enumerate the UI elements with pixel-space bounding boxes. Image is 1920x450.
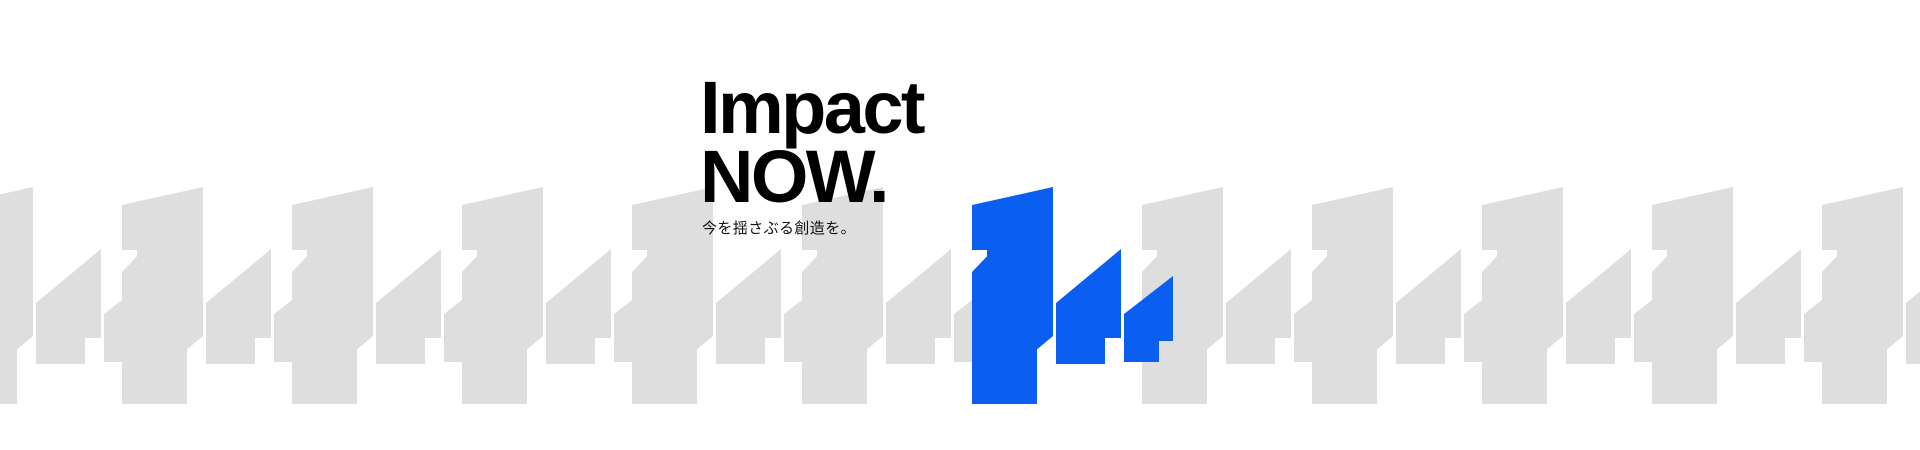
lightning-bolt-pattern [0,0,1920,450]
hero-text-block: Impact NOW. 今を揺さぶる創造を。 [700,74,923,237]
lightning-bolt-pattern-svg [0,0,1920,450]
hero-banner: Impact NOW. 今を揺さぶる創造を。 [0,0,1920,450]
bolt-unit-accent [972,187,1173,404]
bolt-units-gray [0,187,1920,404]
headline-line-1: Impact [700,74,923,143]
hero-subtitle: 今を揺さぶる創造を。 [702,219,923,237]
headline-line-2: NOW. [700,143,923,212]
page-title: Impact NOW. [700,74,923,212]
